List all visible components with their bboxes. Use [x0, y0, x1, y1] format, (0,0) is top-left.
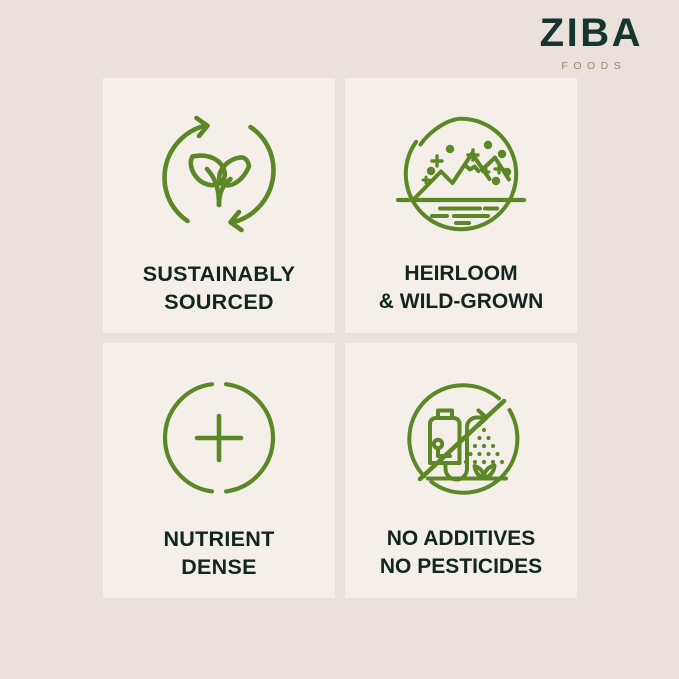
mountain-landscape-icon: [391, 104, 531, 244]
brand-subtitle: FOODS: [540, 61, 648, 72]
brand-logo: ZIBA FOODS: [540, 12, 643, 72]
feature-card-nutrient-dense[interactable]: NUTRIENT DENSE: [103, 343, 335, 598]
feature-label-sustainably-sourced: SUSTAINABLY SOURCED: [137, 260, 302, 317]
feature-card-sustainably-sourced[interactable]: SUSTAINABLY SOURCED: [103, 78, 335, 333]
feature-card-heirloom-wild-grown[interactable]: HEIRLOOM & WILD-GROWN: [345, 78, 577, 333]
feature-grid: SUSTAINABLY SOURCED: [103, 78, 577, 602]
recycle-sprout-icon: [149, 104, 289, 244]
feature-label-nutrient-dense: NUTRIENT DENSE: [157, 525, 280, 582]
feature-label-heirloom-wild-grown: HEIRLOOM & WILD-GROWN: [373, 260, 549, 315]
no-pesticide-sprayer-icon: [391, 369, 531, 509]
feature-card-no-additives-no-pesticides[interactable]: NO ADDITIVES NO PESTICIDES: [345, 343, 577, 598]
plus-circle-icon: [149, 369, 289, 509]
brand-name: ZIBA: [540, 12, 643, 54]
feature-label-no-additives-no-pesticides: NO ADDITIVES NO PESTICIDES: [374, 525, 548, 580]
